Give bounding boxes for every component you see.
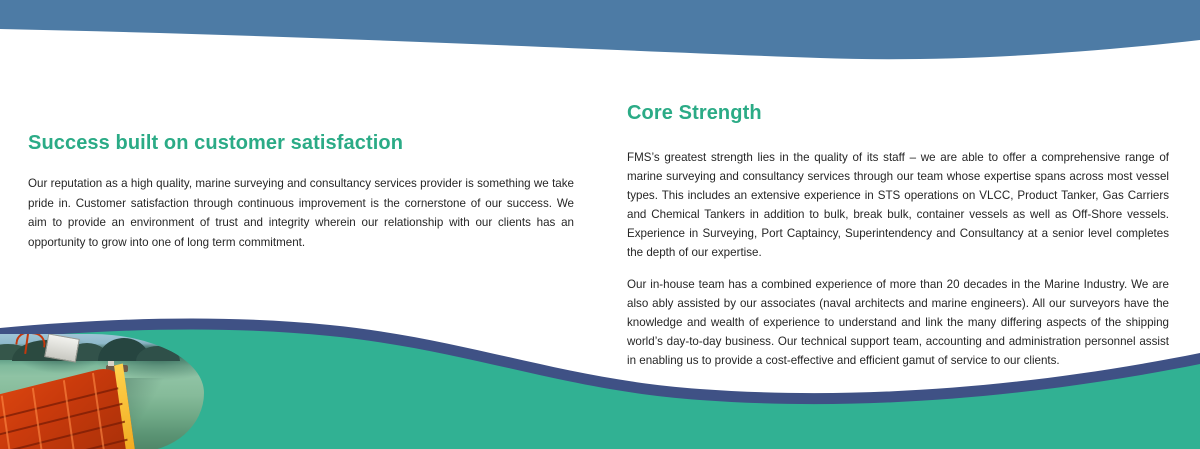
- brochure-page: Success built on customer satisfaction O…: [0, 0, 1200, 449]
- left-column-paragraph: Our reputation as a high quality, marine…: [28, 174, 574, 252]
- left-column: Success built on customer satisfaction O…: [28, 132, 574, 252]
- right-column: Core Strength FMS’s greatest strength li…: [627, 102, 1169, 370]
- left-column-heading: Success built on customer satisfaction: [28, 132, 574, 154]
- right-column-heading: Core Strength: [627, 102, 1169, 124]
- right-column-paragraph-1: FMS’s greatest strength lies in the qual…: [627, 148, 1169, 262]
- right-column-paragraph-2: Our in-house team has a combined experie…: [627, 275, 1169, 370]
- page-content: Success built on customer satisfaction O…: [0, 0, 1200, 449]
